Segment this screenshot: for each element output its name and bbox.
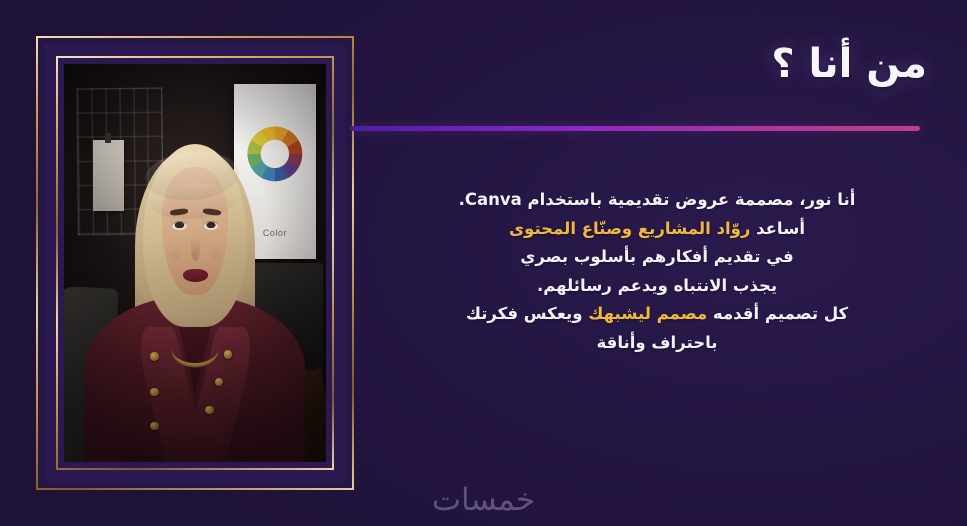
line5-highlight: مصمم ليشبهك bbox=[588, 304, 707, 323]
canva-brand-name: Canva bbox=[465, 190, 522, 209]
photo-scene: Color bbox=[64, 64, 326, 462]
portrait-photo: Color bbox=[64, 64, 326, 462]
paragraph-line-6: باحتراف وأناقة bbox=[387, 329, 927, 358]
page-title: من أنا ؟ bbox=[771, 44, 927, 84]
line5-text-b: ويعكس فكرتك bbox=[466, 304, 588, 323]
title-divider bbox=[350, 126, 920, 131]
khamsat-watermark: خمسات bbox=[432, 482, 535, 518]
line5-text-a: كل تصميم أقدمه bbox=[707, 304, 848, 323]
paragraph-line-4: يجذب الانتباه ويدعم رسائلهم. bbox=[387, 272, 927, 301]
content-column: من أنا ؟ أنا نور، مصممة عروض تقديمية باس… bbox=[350, 0, 967, 526]
cheek-left bbox=[167, 247, 183, 263]
slide-root: Color bbox=[0, 0, 967, 526]
person bbox=[64, 64, 326, 462]
eye-right bbox=[204, 221, 219, 230]
blazer-button bbox=[205, 406, 213, 414]
paragraph-line-1: أنا نور، مصممة عروض تقديمية باستخدام Can… bbox=[387, 186, 927, 215]
cheek-right bbox=[208, 247, 224, 263]
blazer-button bbox=[150, 422, 158, 430]
eye-left bbox=[172, 221, 187, 230]
lips bbox=[183, 269, 208, 282]
line2-highlight: روّاد المشاريع وصنّاع المحتوى bbox=[509, 219, 750, 238]
line1-text-a: أنا نور، مصممة عروض تقديمية باستخدام bbox=[522, 190, 856, 209]
intro-paragraph: أنا نور، مصممة عروض تقديمية باستخدام Can… bbox=[387, 186, 927, 357]
line2-text-a: أساعد bbox=[750, 219, 805, 238]
blazer-button bbox=[224, 350, 232, 358]
paragraph-line-5: كل تصميم أقدمه مصمم ليشبهك ويعكس فكرتك bbox=[387, 300, 927, 329]
paragraph-line-3: في تقديم أفكارهم بأسلوب بصري bbox=[387, 243, 927, 272]
paragraph-line-2: أساعد روّاد المشاريع وصنّاع المحتوى bbox=[387, 215, 927, 244]
portrait-frame: Color bbox=[36, 36, 354, 490]
blazer-button bbox=[150, 352, 158, 360]
